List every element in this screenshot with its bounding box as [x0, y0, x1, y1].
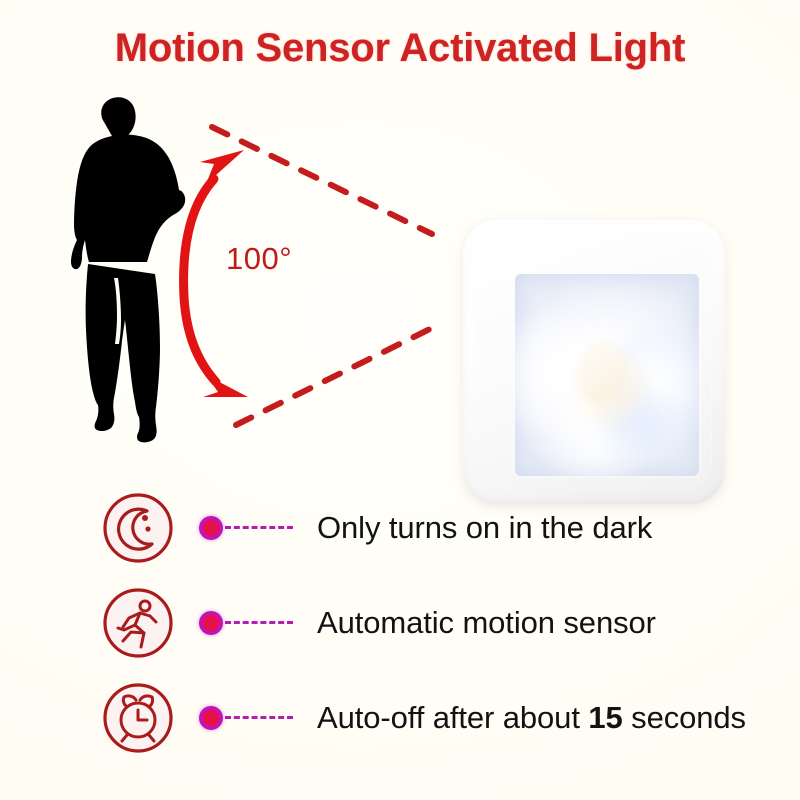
- glow-bottom-right: [589, 379, 688, 468]
- feature-text-main: Only turns on in the dark: [317, 510, 652, 545]
- feature-row: Auto-off after about 15 seconds: [0, 670, 800, 765]
- feature-text-main: Auto-off after about: [317, 700, 588, 735]
- dashed-connector: [225, 621, 293, 624]
- connector-line: [199, 706, 293, 730]
- feature-label: Auto-off after about 15 seconds: [317, 700, 746, 736]
- glow-bottom-left: [537, 387, 651, 476]
- dashed-connector: [225, 716, 293, 719]
- dashed-connector: [225, 526, 293, 529]
- feature-label: Automatic motion sensor: [317, 605, 656, 641]
- device-bezel: [476, 234, 712, 490]
- running-person-icon: [101, 586, 175, 660]
- feature-text-main: Automatic motion sensor: [317, 605, 656, 640]
- connector-line: [199, 516, 293, 540]
- connector-line: [199, 611, 293, 635]
- bullet-dot: [199, 611, 223, 635]
- glow-core: [578, 341, 626, 402]
- device-light-panel: [515, 274, 699, 476]
- feature-label: Only turns on in the dark: [317, 510, 652, 546]
- bullet-dot: [199, 706, 223, 730]
- alarm-clock-icon: [101, 681, 175, 755]
- glow-right: [592, 322, 699, 447]
- page-title: Motion Sensor Activated Light: [0, 26, 800, 71]
- detection-illustration: 100°: [0, 92, 800, 462]
- cone-line-lower: [236, 324, 440, 425]
- feature-list: Only turns on in the dark: [0, 480, 800, 765]
- cone-line-upper: [212, 127, 432, 234]
- glow-left: [515, 310, 629, 439]
- feature-text-suffix: seconds: [623, 700, 746, 735]
- feature-row: Only turns on in the dark: [0, 480, 800, 575]
- night-light-device: [463, 220, 725, 504]
- moon-stars-icon: [101, 491, 175, 565]
- angle-label: 100°: [226, 241, 292, 276]
- feature-text-highlight: 15: [588, 700, 622, 735]
- product-infographic: Motion Sensor Activated Light: [0, 0, 800, 800]
- glow-warm-center: [570, 347, 651, 428]
- feature-row: Automatic motion sensor: [0, 575, 800, 670]
- bullet-dot: [199, 516, 223, 540]
- walking-person-silhouette: [71, 97, 185, 442]
